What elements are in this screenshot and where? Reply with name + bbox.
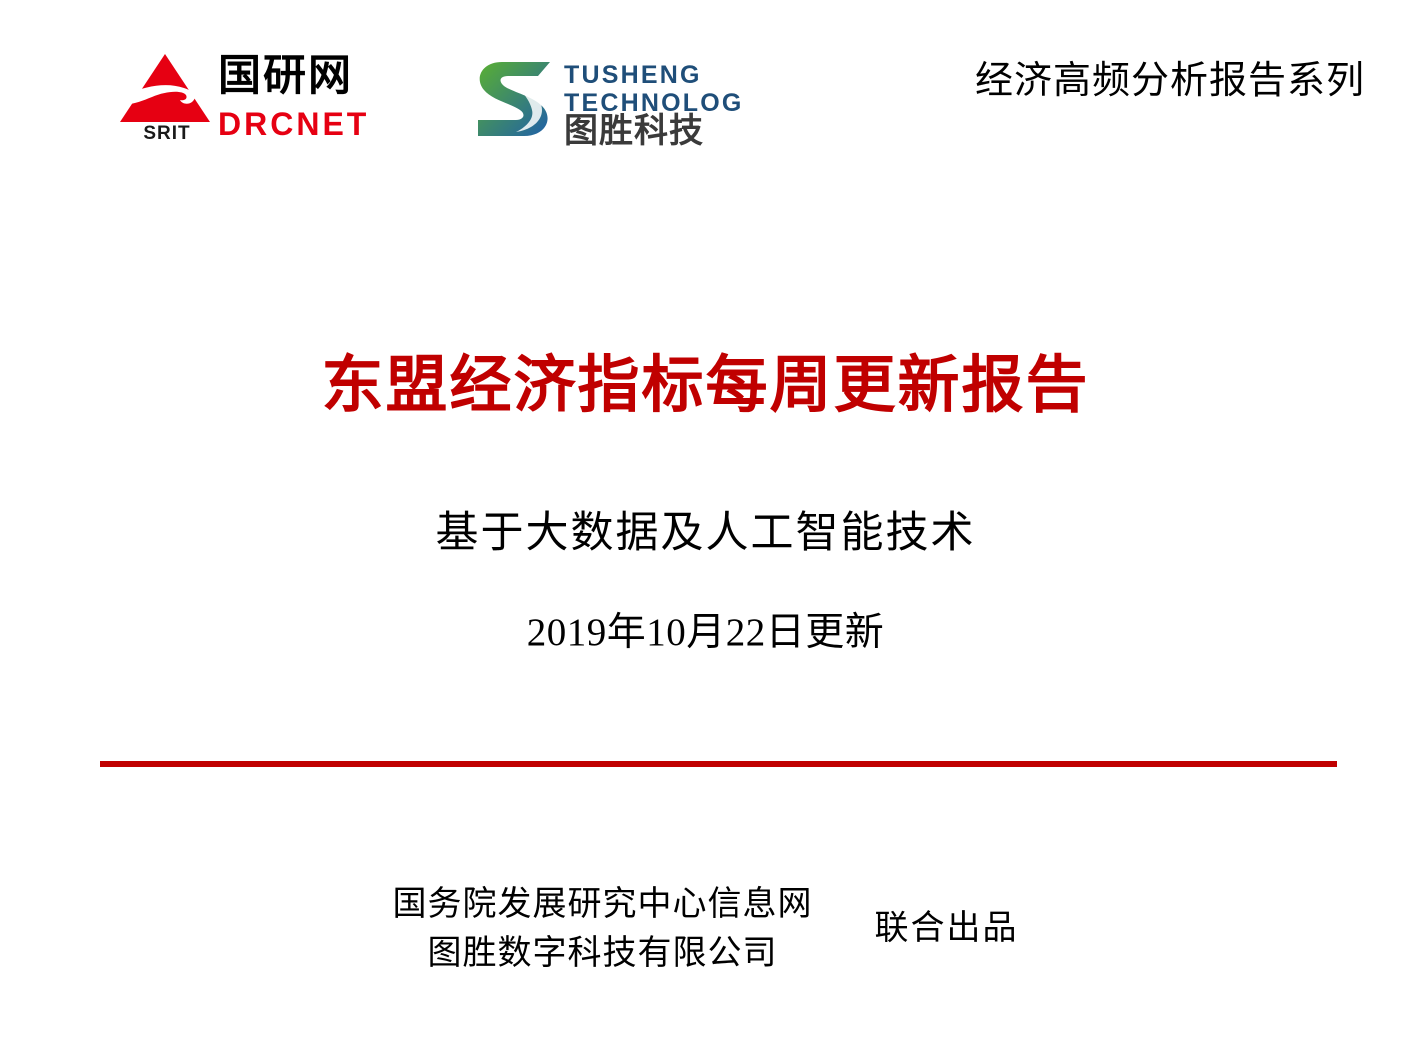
header-logo-row: SRIT 国研网 DRCNET (0, 0, 1411, 175)
title-block: 东盟经济指标每周更新报告 基于大数据及人工智能技术 2019年10月22日更新 (0, 352, 1411, 657)
srit-wordmark: SRIT (122, 124, 212, 143)
drcnet-chinese-wordmark: 国研网 (218, 54, 353, 99)
srit-triangle-swoosh-icon (118, 52, 213, 130)
subtitle: 基于大数据及人工智能技术 (0, 508, 1411, 560)
publisher-names: 国务院发展研究中心信息网 图胜数字科技有限公司 (393, 880, 813, 979)
tusheng-s-icon (472, 56, 556, 142)
joint-production-label: 联合出品 (875, 912, 1019, 946)
logo-drcnet: SRIT 国研网 DRCNET (118, 52, 378, 152)
tusheng-chinese-wordmark: 图胜科技 (564, 114, 704, 148)
footer: 国务院发展研究中心信息网 图胜数字科技有限公司 联合出品 (0, 880, 1411, 979)
title-slide: SRIT 国研网 DRCNET (0, 0, 1411, 1058)
red-divider (100, 761, 1337, 767)
page-title: 东盟经济指标每周更新报告 (0, 352, 1411, 420)
tusheng-latin-line1: TUSHENG (564, 63, 702, 88)
publisher-line-2: 图胜数字科技有限公司 (393, 929, 813, 978)
update-date: 2019年10月22日更新 (0, 610, 1411, 657)
drcnet-latin-wordmark: DRCNET (218, 108, 369, 140)
report-series-label: 经济高频分析报告系列 (975, 62, 1365, 100)
publisher-line-1: 国务院发展研究中心信息网 (393, 880, 813, 929)
logo-tusheng: TUSHENG TECHNOLOG 图胜科技 (472, 56, 782, 156)
